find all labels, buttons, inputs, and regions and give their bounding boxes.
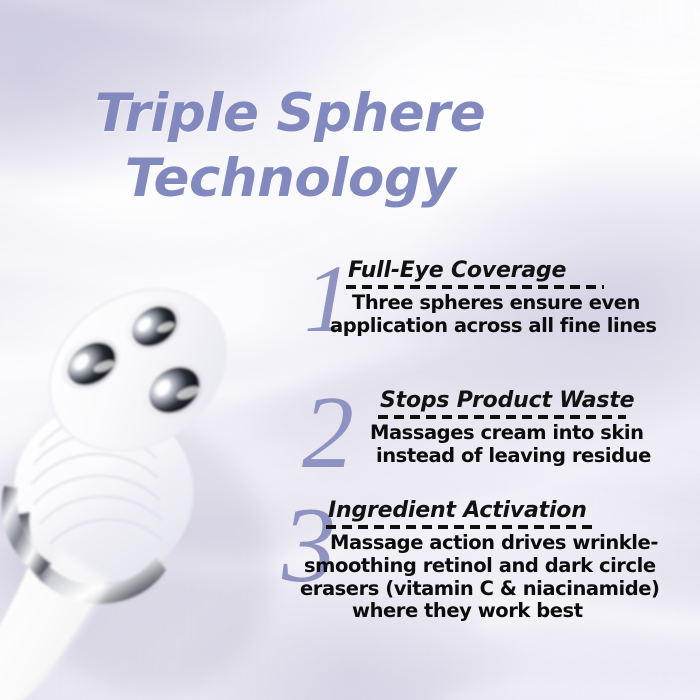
feature-heading-3: Ingredient Activation	[324, 498, 659, 523]
product-image-eye-roller	[0, 250, 320, 700]
feature-description-2: Massages cream into skin instead of leav…	[370, 422, 651, 468]
feature-description-1-line-1: Three spheres ensure even	[330, 292, 657, 315]
feature-description-3-line-3: erasers (vitamin C & niacinamide)	[300, 578, 659, 601]
feature-description-2-line-2: instead of leaving residue	[370, 445, 651, 468]
feature-description-3-line-2: smoothing retinol and dark circle	[300, 555, 659, 578]
feature-content-3: Ingredient Activation Massage action dri…	[324, 498, 659, 623]
page-title: Triple Sphere Technology	[40, 82, 540, 211]
feature-content-2: Stops Product Waste Massages cream into …	[378, 388, 651, 468]
dashed-divider-1	[346, 285, 604, 289]
feature-description-2-line-1: Massages cream into skin	[370, 422, 651, 445]
feature-description-1-line-2: application across all fine lines	[330, 315, 657, 338]
dashed-divider-3	[326, 525, 598, 529]
feature-content-1: Full-Eye Coverage Three spheres ensure e…	[344, 258, 657, 338]
dashed-divider-2	[378, 415, 626, 419]
feature-description-3: Massage action drives wrinkle- smoothing…	[300, 532, 659, 623]
product-feature-infographic: Triple Sphere Technology 1 Full-Eye Cove…	[0, 0, 700, 700]
page-title-line-1: Triple Sphere	[95, 83, 486, 144]
feature-description-3-line-4: where they work best	[300, 600, 659, 623]
feature-numeral-2: 2	[302, 392, 354, 473]
page-title-line-2: Technology	[40, 147, 540, 212]
feature-heading-1: Full-Eye Coverage	[344, 258, 657, 283]
feature-description-1: Three spheres ensure even application ac…	[330, 292, 657, 338]
feature-heading-2: Stops Product Waste	[378, 388, 651, 413]
feature-description-3-line-1: Massage action drives wrinkle-	[300, 532, 659, 555]
